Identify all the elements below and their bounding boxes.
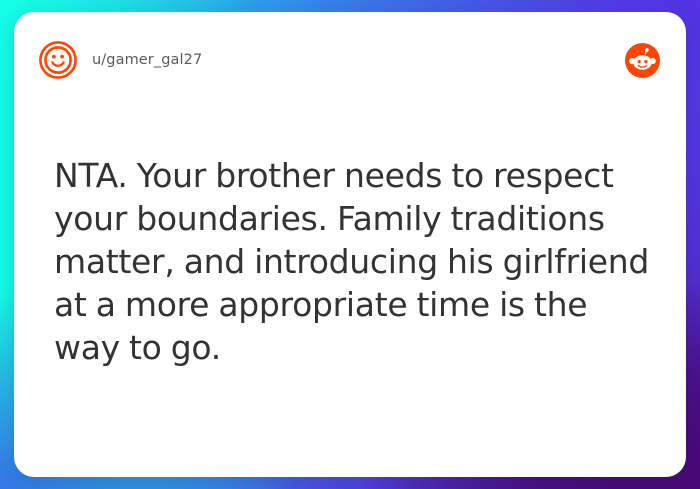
smiley-face-avatar-icon[interactable] [38, 40, 78, 80]
post-text: NTA. Your brother needs to respect your … [54, 154, 652, 369]
reddit-snoo-logo-icon[interactable] [625, 43, 660, 78]
post-author-username: u/gamer_gal27 [92, 52, 202, 68]
post-card: u/gamer_gal27 NTA. Your br [14, 12, 686, 477]
screenshot-stage: u/gamer_gal27 NTA. Your br [0, 0, 700, 489]
post-card-body: NTA. Your brother needs to respect your … [54, 154, 652, 369]
post-author[interactable]: u/gamer_gal27 [38, 40, 202, 80]
post-card-header: u/gamer_gal27 [14, 12, 686, 108]
